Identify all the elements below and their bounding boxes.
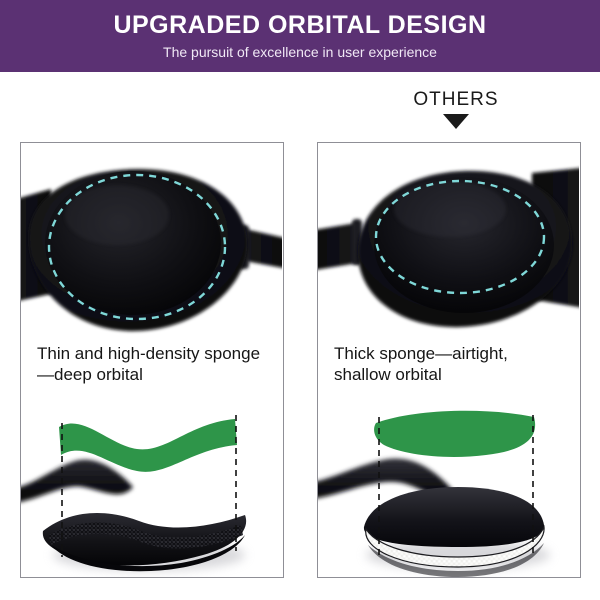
product-photo-others	[318, 143, 580, 335]
page-subtitle: The pursuit of excellence in user experi…	[163, 42, 437, 62]
caption-upgraded: Thin and high-density sponge—deep orbita…	[21, 339, 283, 401]
caption-text: Thick sponge—airtight, shallow orbital	[334, 343, 564, 385]
header-banner: UPGRADED ORBITAL DESIGN The pursuit of e…	[0, 0, 600, 72]
comparison-panel-upgraded: Thin and high-density sponge—deep orbita…	[20, 142, 284, 578]
cross-section-diagram-others	[318, 405, 580, 577]
caption-text: Thin and high-density sponge—deep orbita…	[37, 343, 267, 385]
page-title: UPGRADED ORBITAL DESIGN	[113, 10, 486, 40]
triangle-down-icon	[443, 114, 469, 129]
others-marker: OTHERS	[396, 88, 516, 142]
comparison-panel-others: Thick sponge—airtight, shallow orbital	[317, 142, 581, 578]
others-label: OTHERS	[413, 88, 498, 111]
cross-section-diagram-upgraded	[21, 405, 283, 577]
product-photo-upgraded	[21, 143, 283, 335]
caption-others: Thick sponge—airtight, shallow orbital	[318, 339, 580, 401]
